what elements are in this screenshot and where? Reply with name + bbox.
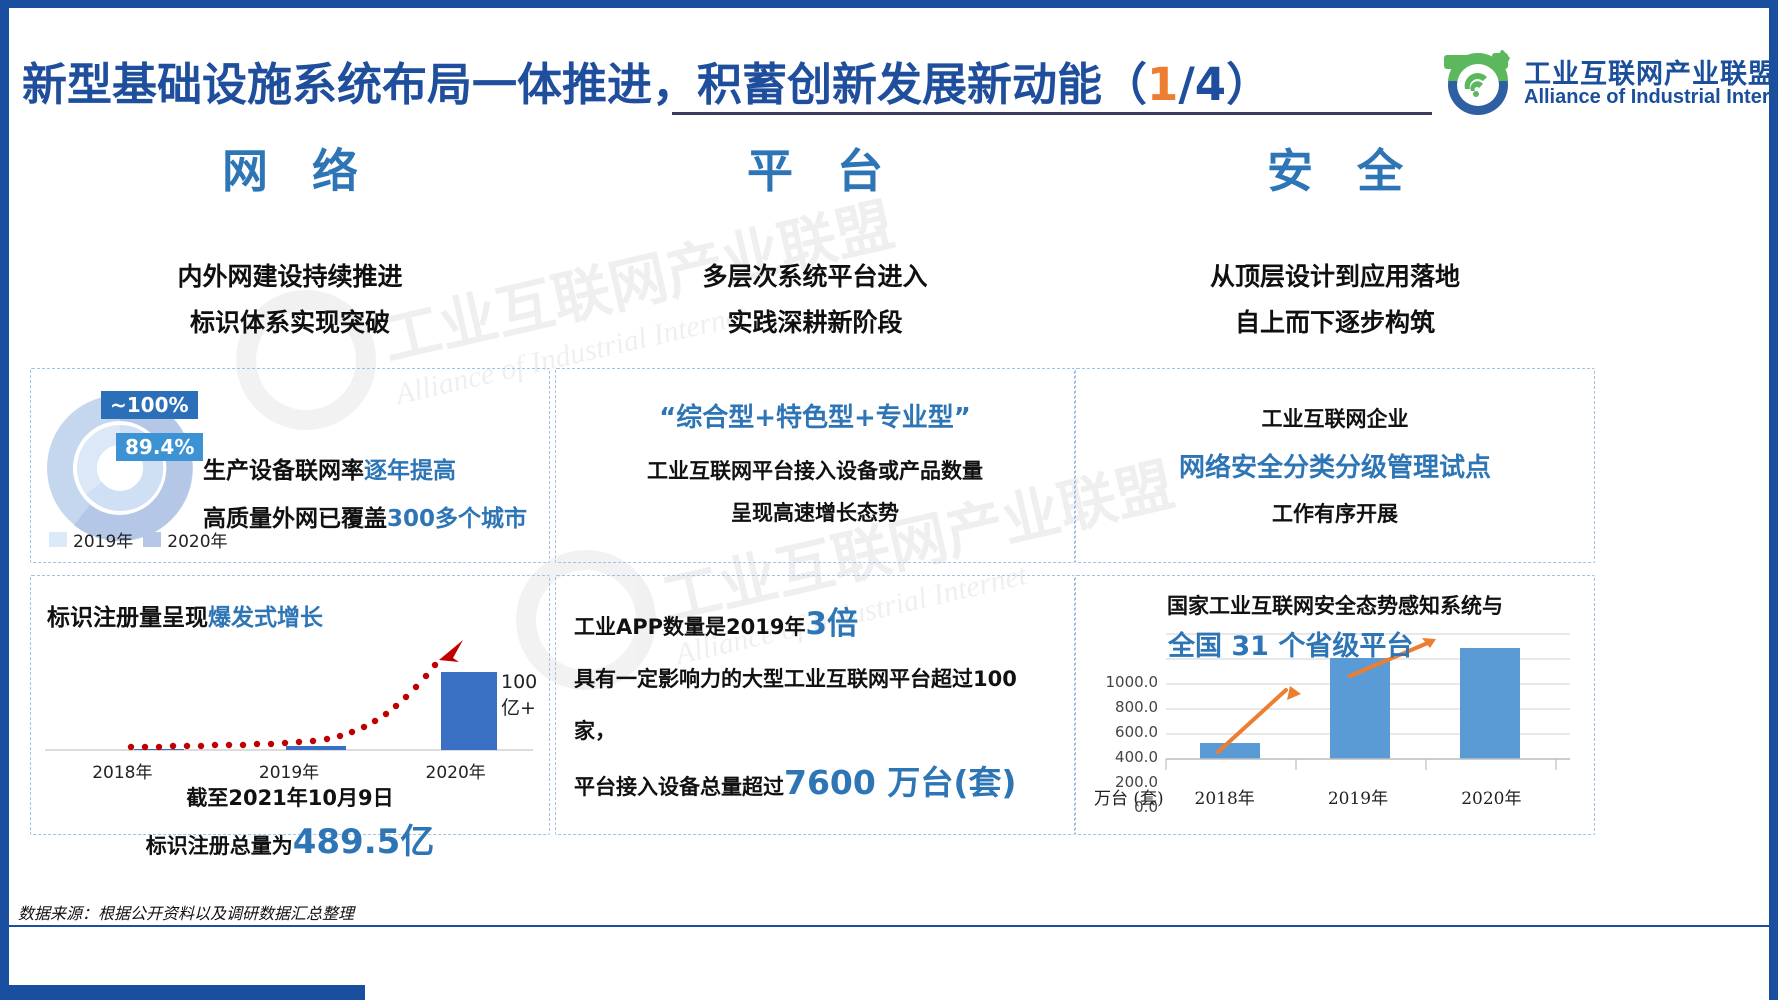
card-network-connectivity: ~100% 89.4% 生产设备联网率逐年提高 高质量外网已覆盖300多个城市 …	[30, 368, 550, 563]
legend-item-2020: 2020年	[143, 527, 227, 552]
page-title-text: 新型基础设施系统布局一体推进，积蓄创新发展新动能	[22, 58, 1102, 111]
network-stat-line1-highlight: 逐年提高	[364, 458, 456, 484]
card-network-identifier-growth: 标识注册量呈现爆发式增长	[30, 575, 550, 835]
platform-device-total-plain: 平台接入设备总量超过	[574, 775, 784, 799]
security-x-label-2018: 2018年	[1158, 784, 1291, 809]
network-stat-line2-plain: 高质量外网已覆盖	[203, 506, 387, 532]
platform-device-total-line: 平台接入设备总量超过7600 万台(套)	[574, 757, 1056, 813]
identifier-total-plain: 标识注册总量为	[146, 834, 293, 858]
security-chart-title: 国家工业互联网安全态势感知系统与	[1076, 590, 1594, 620]
network-stat-line1-plain: 生产设备联网率	[203, 458, 364, 484]
footer-divider	[0, 925, 1778, 927]
page-close-paren: ）	[1226, 58, 1271, 111]
logo-text-en: Alliance of Industrial Internet	[1524, 86, 1778, 109]
page-indicator: （1/4）	[1102, 58, 1271, 111]
column-subtitle-platform: 多层次系统平台进入 实践深耕新阶段	[555, 254, 1075, 346]
platform-large-count-line: 具有一定影响力的大型工业互联网平台超过100 家，	[574, 653, 1056, 757]
data-source-note: 数据来源：根据公开资料以及调研数据汇总整理	[18, 900, 354, 924]
column-security: 安 全 从顶层设计到应用落地 自上而下逐步构筑 工业互联网企业 网络安全分类分级…	[1075, 140, 1595, 835]
platform-app-multiplier: 3倍	[805, 606, 858, 642]
security-x-label-2020: 2020年	[1425, 784, 1558, 809]
legend-swatch-2019	[49, 532, 67, 547]
network-stat-line2-highlight: 300多个城市	[387, 506, 527, 532]
identifier-growth-title-highlight: 爆发式增长	[208, 605, 323, 631]
security-chart-subtitle: 全国 31 个省级平台	[1168, 624, 1413, 663]
identifier-total-line: 标识注册总量为489.5亿	[31, 814, 549, 863]
network-sub-line1: 内外网建设持续推进	[30, 254, 550, 300]
identifier-growth-title: 标识注册量呈现爆发式增长	[47, 598, 323, 632]
y-tick-800: 800.0	[1100, 698, 1158, 716]
identifier-asof-date: 截至2021年10月9日	[31, 782, 549, 812]
network-stat-line2: 高质量外网已覆盖300多个城市	[203, 499, 527, 533]
y-tick-1000: 1000.0	[1100, 673, 1158, 691]
page-open-paren: （	[1102, 58, 1147, 111]
right-rail	[1769, 0, 1778, 1000]
y-tick-400: 400.0	[1100, 748, 1158, 766]
identifier-total-footer: 截至2021年10月9日 标识注册总量为489.5亿	[31, 782, 549, 863]
card-security-pilot: 工业互联网企业 网络安全分类分级管理试点 工作有序开展	[1075, 368, 1595, 563]
platform-devices-line1: 工业互联网平台接入设备或产品数量	[647, 450, 983, 492]
security-sub-line1: 从顶层设计到应用落地	[1075, 254, 1595, 300]
platform-type-quote: “综合型+特色型+专业型”	[659, 397, 971, 434]
security-pilot-line1: 工业互联网企业	[1262, 403, 1409, 433]
x-label-2018: 2018年	[39, 758, 206, 783]
donut-label-inner: 89.4%	[116, 433, 203, 461]
column-network: 网 络 内外网建设持续推进 标识体系实现突破 ~100% 89.4% 生产设备联…	[30, 140, 550, 835]
column-heading-network: 网 络	[30, 140, 550, 202]
gear-wifi-logo-icon	[1442, 50, 1514, 120]
bar-chart-x-axis: 2018年 2019年 2020年	[39, 758, 539, 783]
column-subtitle-security: 从顶层设计到应用落地 自上而下逐步构筑	[1075, 254, 1595, 346]
identifier-total-value: 489.5亿	[293, 822, 435, 862]
platform-app-plain: 工业APP数量是2019年	[574, 615, 805, 639]
column-heading-security: 安 全	[1075, 140, 1595, 202]
security-chart-x-axis: 2018年 2019年 2020年	[1158, 784, 1558, 809]
page-total: 4	[1195, 58, 1226, 111]
aii-logo: 工业互联网产业联盟 Alliance of Industrial Interne…	[1442, 50, 1762, 120]
platform-devices-line2: 呈现高速增长态势	[731, 492, 899, 534]
security-pilot-line2: 网络安全分类分级管理试点	[1179, 447, 1491, 484]
legend-item-2019: 2019年	[49, 527, 133, 552]
bar-annotation-100yi: 100亿+	[501, 671, 549, 720]
card-security-platform-chart: 国家工业互联网安全态势感知系统与 全国 31 个省级平台	[1075, 575, 1595, 835]
page-title: 新型基础设施系统布局一体推进，积蓄创新发展新动能（1/4）	[22, 48, 1271, 113]
slide-header: 新型基础设施系统布局一体推进，积蓄创新发展新动能（1/4）	[0, 18, 1778, 118]
bar-chart-identifier-registrations	[39, 636, 539, 756]
x-label-2020: 2020年	[372, 758, 539, 783]
donut-legend: 2019年 2020年	[49, 527, 228, 552]
legend-label-2019: 2019年	[73, 527, 133, 552]
platform-app-line: 工业APP数量是2019年3倍	[574, 598, 1056, 653]
donut-label-outer: ~100%	[101, 391, 198, 419]
top-rail	[0, 0, 1778, 8]
column-subtitle-network: 内外网建设持续推进 标识体系实现突破	[30, 254, 550, 346]
platform-device-total-value: 7600 万台(套)	[784, 763, 1017, 802]
security-sub-line2: 自上而下逐步构筑	[1075, 300, 1595, 346]
security-chart-unit-label: 万台 (套)	[1094, 784, 1164, 809]
platform-sub-line1: 多层次系统平台进入	[555, 254, 1075, 300]
network-stat-line1: 生产设备联网率逐年提高	[203, 451, 456, 485]
security-x-label-2019: 2019年	[1291, 784, 1424, 809]
card-platform-stats: 工业APP数量是2019年3倍 具有一定影响力的大型工业互联网平台超过100 家…	[555, 575, 1075, 835]
platform-sub-line2: 实践深耕新阶段	[555, 300, 1075, 346]
security-pilot-line3: 工作有序开展	[1272, 498, 1398, 528]
y-tick-600: 600.0	[1100, 723, 1158, 741]
left-rail	[0, 0, 9, 1000]
card-platform-types: “综合型+特色型+专业型” 工业互联网平台接入设备或产品数量 呈现高速增长态势	[555, 368, 1075, 563]
column-heading-platform: 平 台	[555, 140, 1075, 202]
network-sub-line2: 标识体系实现突破	[30, 300, 550, 346]
legend-label-2020: 2020年	[167, 527, 227, 552]
x-label-2019: 2019年	[206, 758, 373, 783]
legend-swatch-2020	[143, 532, 161, 547]
footer-accent-bar	[0, 985, 365, 1000]
column-platform: 平 台 多层次系统平台进入 实践深耕新阶段 “综合型+特色型+专业型” 工业互联…	[555, 140, 1075, 835]
title-underline	[672, 112, 1432, 115]
page-separator: /	[1178, 58, 1194, 111]
page-number: 1	[1147, 58, 1178, 111]
identifier-growth-title-plain: 标识注册量呈现	[47, 605, 208, 631]
